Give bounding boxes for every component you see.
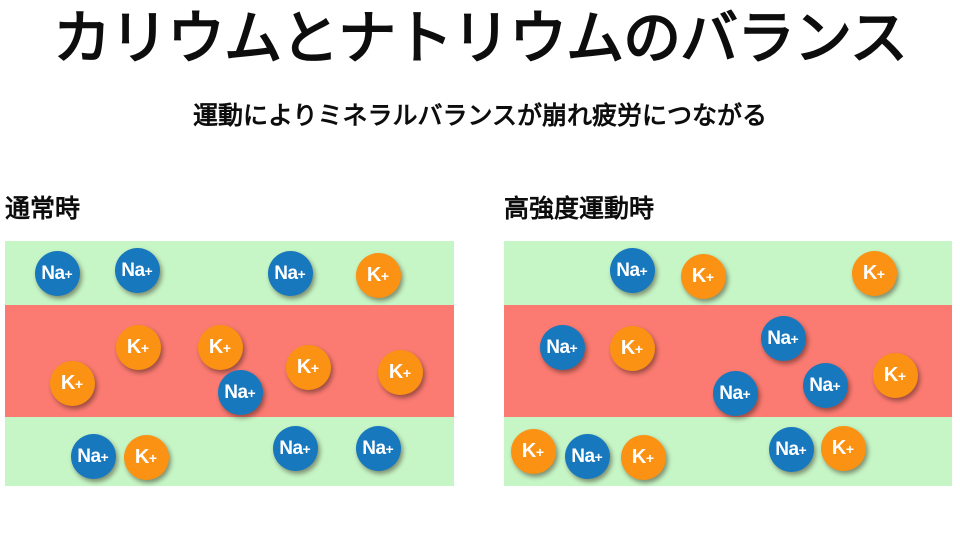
ion-charge: + [743, 387, 751, 401]
potassium-ion: K+ [873, 353, 918, 398]
potassium-ion: K+ [511, 429, 556, 474]
ion-symbol: Na [121, 261, 144, 280]
ion-symbol: Na [362, 439, 385, 458]
ion-charge: + [223, 341, 231, 355]
sodium-ion: Na+ [268, 251, 313, 296]
ion-charge: + [877, 267, 885, 281]
ion-symbol: K [389, 362, 403, 382]
ion-charge: + [536, 445, 544, 459]
potassium-ion: K+ [821, 426, 866, 471]
ion-charge: + [248, 386, 256, 400]
ion-symbol: K [832, 438, 846, 458]
ion-charge: + [149, 451, 157, 465]
ion-symbol: Na [809, 376, 832, 395]
potassium-ion: K+ [286, 345, 331, 390]
ion-symbol: K [522, 441, 536, 461]
potassium-ion: K+ [356, 253, 401, 298]
ion-charge: + [595, 450, 603, 464]
panel-label-normal: 通常時 [5, 194, 80, 224]
ion-symbol: Na [719, 384, 742, 403]
sodium-ion: Na+ [71, 434, 116, 479]
ion-symbol: K [367, 265, 381, 285]
potassium-ion: K+ [621, 435, 666, 480]
ion-charge: + [75, 377, 83, 391]
ion-charge: + [898, 369, 906, 383]
ion-charge: + [706, 270, 714, 284]
sodium-ion: Na+ [540, 325, 585, 370]
ion-symbol: Na [616, 261, 639, 280]
ion-charge: + [791, 332, 799, 346]
ion-charge: + [381, 269, 389, 283]
ion-symbol: Na [546, 338, 569, 357]
sodium-ion: Na+ [713, 371, 758, 416]
page-subtitle: 運動によりミネラルバランスが崩れ疲労につながる [0, 100, 960, 132]
page-title: カリウムとナトリウムのバランス [0, 4, 960, 74]
ion-symbol: K [127, 337, 141, 357]
ion-symbol: K [884, 365, 898, 385]
sodium-ion: Na+ [35, 251, 80, 296]
ion-charge: + [386, 442, 394, 456]
ion-symbol: Na [775, 440, 798, 459]
sodium-ion: Na+ [115, 248, 160, 293]
ion-charge: + [141, 341, 149, 355]
sodium-ion: Na+ [761, 316, 806, 361]
ion-charge: + [65, 267, 73, 281]
potassium-ion: K+ [198, 325, 243, 370]
panel-label-high-intensity: 高強度運動時 [504, 194, 654, 224]
ion-symbol: K [297, 357, 311, 377]
ion-charge: + [570, 341, 578, 355]
ion-charge: + [846, 442, 854, 456]
ion-symbol: K [632, 447, 646, 467]
potassium-ion: K+ [124, 435, 169, 480]
sodium-ion: Na+ [769, 427, 814, 472]
ion-charge: + [833, 379, 841, 393]
ion-charge: + [101, 450, 109, 464]
ion-charge: + [635, 342, 643, 356]
ion-symbol: K [621, 338, 635, 358]
ion-symbol: K [863, 263, 877, 283]
ion-charge: + [311, 361, 319, 375]
potassium-ion: K+ [378, 350, 423, 395]
potassium-ion: K+ [610, 326, 655, 371]
ion-charge: + [799, 443, 807, 457]
slide-canvas: カリウムとナトリウムのバランス 運動によりミネラルバランスが崩れ疲労につながる … [0, 0, 960, 540]
ion-symbol: Na [224, 383, 247, 402]
potassium-ion: K+ [116, 325, 161, 370]
ion-symbol: Na [77, 447, 100, 466]
potassium-ion: K+ [852, 251, 897, 296]
sodium-ion: Na+ [218, 370, 263, 415]
ion-symbol: Na [274, 264, 297, 283]
ion-symbol: K [135, 447, 149, 467]
potassium-ion: K+ [681, 254, 726, 299]
ion-symbol: Na [571, 447, 594, 466]
sodium-ion: Na+ [356, 426, 401, 471]
ion-symbol: Na [41, 264, 64, 283]
ion-symbol: Na [279, 439, 302, 458]
ion-charge: + [303, 442, 311, 456]
potassium-ion: K+ [50, 361, 95, 406]
ion-charge: + [640, 264, 648, 278]
ion-symbol: K [61, 373, 75, 393]
ion-charge: + [145, 264, 153, 278]
sodium-ion: Na+ [273, 426, 318, 471]
sodium-ion: Na+ [803, 363, 848, 408]
ion-charge: + [403, 366, 411, 380]
ion-charge: + [646, 451, 654, 465]
sodium-ion: Na+ [565, 434, 610, 479]
ion-symbol: Na [767, 329, 790, 348]
ion-symbol: K [692, 266, 706, 286]
ion-symbol: K [209, 337, 223, 357]
sodium-ion: Na+ [610, 248, 655, 293]
ion-charge: + [298, 267, 306, 281]
